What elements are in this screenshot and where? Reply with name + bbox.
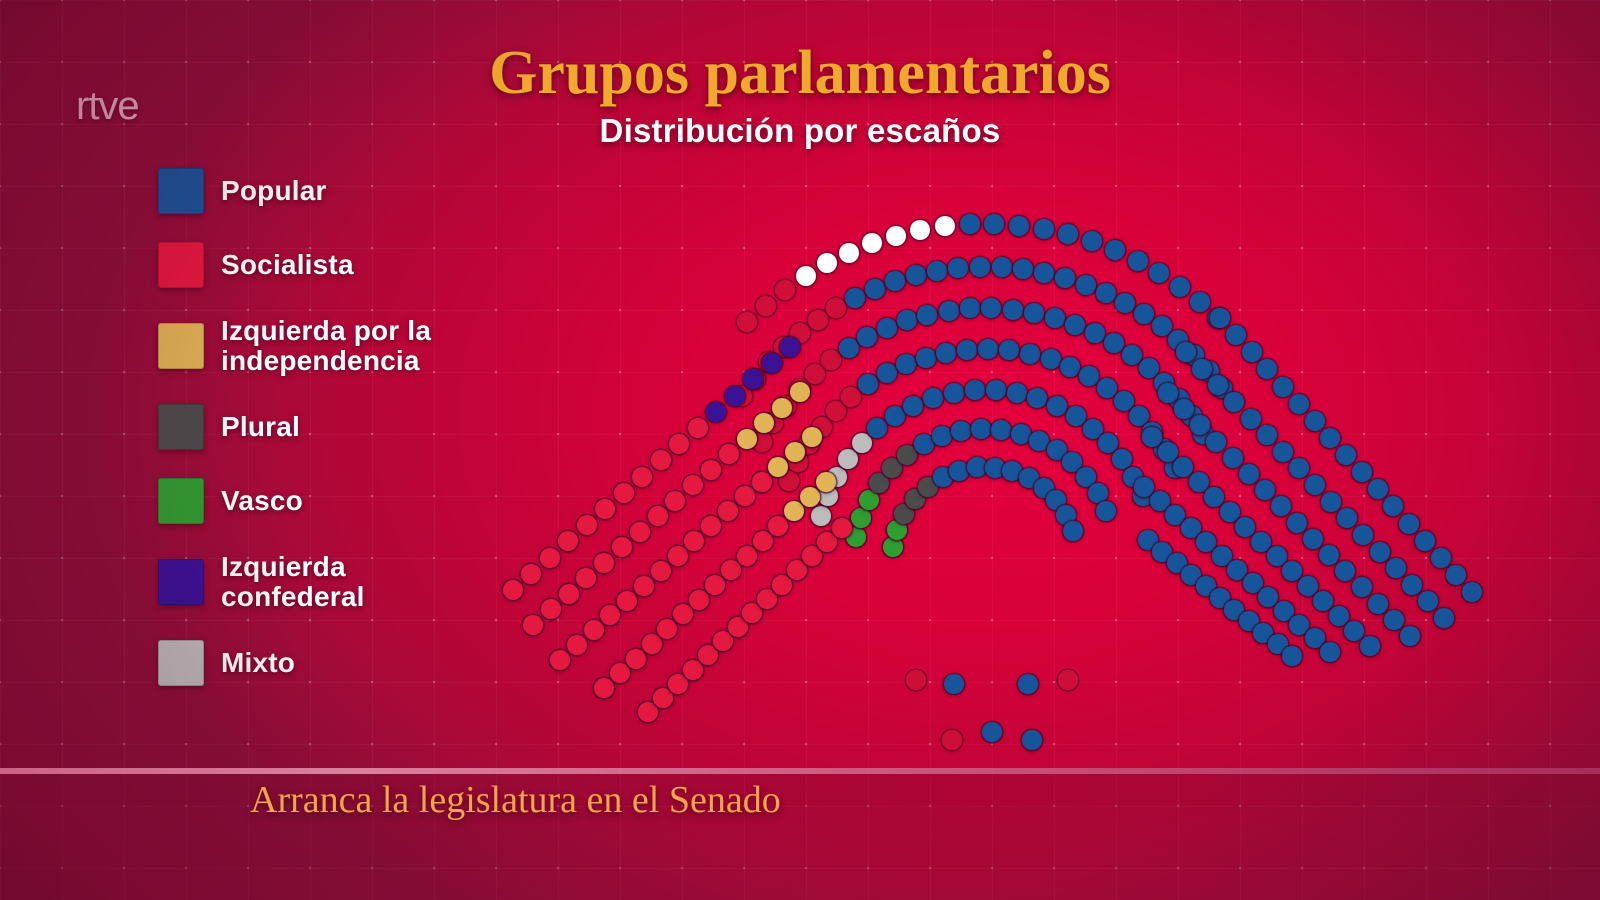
seat-popular (1282, 561, 1302, 581)
seat-popular (1096, 283, 1116, 303)
seat-popular (865, 279, 885, 299)
seat-popular (960, 298, 980, 318)
footer-band (0, 774, 1600, 900)
seat-popular (923, 388, 943, 408)
seat-socialista (657, 619, 677, 639)
seat-socialista (705, 575, 725, 595)
seat-popular (1189, 472, 1209, 492)
seat-socialista (523, 615, 543, 635)
seat-popular (1462, 582, 1482, 602)
seat-socialista (626, 649, 646, 669)
seat-socialista (558, 531, 578, 551)
seat-popular (1226, 325, 1246, 345)
seat-popular (1170, 277, 1190, 297)
seat-popular (957, 340, 977, 360)
seat-popular (1018, 674, 1038, 694)
seat-popular (1344, 621, 1364, 641)
seat-popular (1257, 359, 1277, 379)
seat-popular (1114, 391, 1134, 411)
seat-izquierda-independencia (737, 429, 757, 449)
seat-popular (917, 305, 937, 325)
seat-popular (939, 301, 959, 321)
seat-socialista (772, 575, 792, 595)
seat-popular (1134, 304, 1154, 324)
seat-popular (1204, 487, 1224, 507)
seat-popular (1158, 442, 1178, 462)
seat-izquierda-independencia (784, 501, 804, 521)
seat-socialista (567, 635, 587, 655)
seat-sin-asignar (1058, 670, 1078, 690)
seat-socialista (617, 591, 637, 611)
seat-popular (1313, 591, 1333, 611)
seat-popular (1370, 542, 1390, 562)
seat-socialista (614, 483, 634, 503)
seat-popular (1027, 388, 1047, 408)
seat-popular (1305, 411, 1325, 431)
seat-popular (1066, 406, 1086, 426)
seat-popular (1224, 392, 1244, 412)
seat-popular (932, 426, 952, 446)
seat-popular (1368, 594, 1388, 614)
seat-popular (1011, 424, 1031, 444)
seat-popular (960, 214, 980, 234)
seat-socialista (719, 444, 739, 464)
seat-socialista (683, 660, 703, 680)
seat-socialista (673, 604, 693, 624)
seat-socialista (550, 650, 570, 670)
seat-popular (877, 363, 897, 383)
seat-popular (857, 327, 877, 347)
seat-popular (967, 457, 987, 477)
seat-popular (1024, 303, 1044, 323)
seat-popular (1352, 577, 1372, 597)
seat-mixto (852, 433, 872, 453)
seat-socialista (721, 560, 741, 580)
seat-popular (1173, 457, 1193, 477)
seat-popular (1190, 292, 1210, 312)
seat-socialista (753, 531, 773, 551)
seat-popular (1082, 231, 1102, 251)
seat-socialista (600, 605, 620, 625)
seat-popular (1336, 445, 1356, 465)
seat-socialista (540, 548, 560, 568)
seat-popular (1434, 608, 1454, 628)
seat-popular (1076, 275, 1096, 295)
seat-popular (986, 380, 1006, 400)
seat-socialista (832, 518, 852, 538)
seat-popular (1104, 333, 1124, 353)
seat-socialista (632, 467, 652, 487)
seat-popular (970, 257, 990, 277)
hemicycle-seating-chart (0, 0, 1600, 900)
seat-popular (1112, 449, 1132, 469)
seat-izquierda-independencia (772, 398, 792, 418)
seat-popular (1079, 366, 1099, 386)
seat-popular (839, 338, 859, 358)
seat-socialista (595, 499, 615, 519)
seat-popular (1415, 531, 1435, 551)
seat-socialista (802, 546, 822, 566)
seat-popular (1273, 442, 1293, 462)
seat-popular (896, 354, 916, 374)
seat-popular (1399, 514, 1419, 534)
seat-socialista (668, 546, 688, 566)
seat-popular (1446, 565, 1466, 585)
seat-popular (1255, 480, 1275, 500)
seat-popular (982, 722, 1002, 742)
seat-popular (1320, 642, 1340, 662)
seat-popular (1142, 427, 1162, 447)
seat-popular (1176, 342, 1196, 362)
footer-caption: Arranca la legislatura en el Senado (250, 778, 781, 822)
seat-izquierda-independencia (785, 442, 805, 462)
seat-socialista (669, 434, 689, 454)
seat-popular (1257, 425, 1277, 445)
seat-popular (1047, 396, 1067, 416)
seat-popular (1210, 308, 1230, 328)
seat-sin-asignar (841, 387, 861, 407)
seat-popular (1235, 517, 1255, 537)
seat-popular (1289, 394, 1309, 414)
seat-popular (1192, 359, 1212, 379)
seat-vasco (851, 508, 871, 528)
seat-popular (1251, 532, 1271, 552)
seat-popular (1041, 349, 1061, 369)
seat-popular (1242, 342, 1262, 362)
seat-vacante (862, 233, 882, 253)
seat-izquierda-confederal (762, 353, 782, 373)
seat-socialista (787, 560, 807, 580)
seat-sin-asignar (826, 401, 846, 421)
seat-socialista (594, 678, 614, 698)
seat-popular (1220, 502, 1240, 522)
seat-socialista (594, 553, 614, 573)
seat-vacante (910, 220, 930, 240)
seat-popular (1303, 529, 1323, 549)
seat-socialista (737, 546, 757, 566)
seat-vacante (935, 216, 955, 236)
seat-vacante (817, 253, 837, 273)
seat-socialista (521, 564, 541, 584)
seat-popular (944, 674, 964, 694)
seat-socialista (651, 450, 671, 470)
seat-popular (885, 406, 905, 426)
seat-popular (1368, 479, 1388, 499)
seat-izquierda-independencia (768, 457, 788, 477)
seat-popular (978, 339, 998, 359)
seat-popular (936, 343, 956, 363)
seat-popular (1007, 383, 1027, 403)
seat-izquierda-confederal (725, 386, 745, 406)
seat-popular (1149, 263, 1169, 283)
seat-izquierda-independencia (790, 382, 810, 402)
seat-popular (1273, 377, 1293, 397)
seat-sin-asignar (775, 280, 795, 300)
seat-sin-asignar (942, 730, 962, 750)
seat-popular (1096, 501, 1116, 521)
seat-popular (1223, 448, 1243, 468)
seat-popular (1287, 513, 1307, 533)
seat-popular (1034, 219, 1054, 239)
seat-popular (971, 419, 991, 439)
seat-popular (948, 258, 968, 278)
seat-popular (1128, 251, 1148, 271)
seat-socialista (630, 522, 650, 542)
seat-popular (1034, 263, 1054, 283)
seat-popular (1060, 357, 1080, 377)
seat-socialista (610, 663, 630, 683)
seat-popular (1431, 548, 1451, 568)
seat-popular (867, 418, 887, 438)
seat-socialista (651, 561, 671, 581)
seat-socialista (665, 491, 685, 511)
seat-popular (981, 298, 1001, 318)
seat-popular (906, 265, 926, 285)
seat-socialista (576, 568, 596, 588)
seat-izquierda-independencia (800, 487, 820, 507)
seat-popular (903, 396, 923, 416)
seat-popular (1097, 378, 1117, 398)
seat-popular (1289, 458, 1309, 478)
seat-popular (1384, 610, 1404, 630)
seat-socialista (701, 460, 721, 480)
seat-popular (1045, 308, 1065, 328)
seat-popular (1383, 496, 1403, 516)
seat-popular (992, 257, 1012, 277)
seat-sin-asignar (808, 310, 828, 330)
seat-popular (1352, 462, 1372, 482)
seat-socialista (648, 506, 668, 526)
seat-izquierda-confederal (706, 402, 726, 422)
seat-popular (1360, 636, 1380, 656)
seat-popular (1386, 558, 1406, 578)
seat-vacante (839, 243, 859, 263)
seat-popular (1400, 626, 1420, 646)
seat-vacante (886, 226, 906, 246)
seat-popular (1058, 224, 1078, 244)
seat-popular (944, 383, 964, 403)
seat-sin-asignar (805, 364, 825, 384)
seat-popular (965, 380, 985, 400)
seat-popular (951, 421, 971, 441)
seat-izquierda-independencia (802, 427, 822, 447)
seat-mixto (838, 449, 858, 469)
seat-izquierda-confederal (780, 337, 800, 357)
seat-mixto (811, 506, 831, 526)
seat-socialista (683, 475, 703, 495)
seat-popular (885, 271, 905, 291)
seat-popular (1241, 409, 1261, 429)
seat-popular (1022, 730, 1042, 750)
seat-popular (1206, 432, 1226, 452)
seat-popular (1337, 508, 1357, 528)
seat-popular (1321, 492, 1341, 512)
seat-vasco (883, 537, 903, 557)
seat-popular (1158, 383, 1178, 403)
seat-popular (1085, 323, 1105, 343)
seat-popular (914, 434, 934, 454)
seat-popular (1055, 268, 1075, 288)
seat-socialista (642, 634, 662, 654)
seat-sin-asignar (906, 670, 926, 690)
seat-popular (845, 288, 865, 308)
seat-popular (1418, 591, 1438, 611)
seat-popular (858, 374, 878, 394)
seat-socialista (584, 620, 604, 640)
seat-popular (927, 261, 947, 281)
seat-socialista (559, 584, 579, 604)
seat-popular (1122, 345, 1142, 365)
seat-socialista (684, 531, 704, 551)
seat-popular (1152, 316, 1172, 336)
seat-socialista (612, 537, 632, 557)
seat-popular (1105, 240, 1125, 260)
seat-popular (1115, 293, 1135, 313)
seat-popular (1335, 561, 1355, 581)
footer-divider (0, 768, 1600, 774)
seat-sin-asignar (821, 350, 841, 370)
seat-popular (916, 348, 936, 368)
seat-popular (1020, 344, 1040, 364)
seat-popular (1065, 315, 1085, 335)
seat-vacante (796, 266, 816, 286)
seat-popular (999, 340, 1019, 360)
seat-socialista (752, 472, 772, 492)
seat-popular (1013, 259, 1033, 279)
seat-popular (877, 318, 897, 338)
seat-popular (897, 310, 917, 330)
seat-izquierda-independencia (816, 472, 836, 492)
seat-popular (1319, 545, 1339, 565)
seat-popular (1003, 300, 1023, 320)
seat-sin-asignar (826, 298, 846, 318)
seat-popular (1271, 496, 1291, 516)
seat-popular (1353, 525, 1373, 545)
seat-popular (1239, 464, 1259, 484)
seat-socialista (503, 580, 523, 600)
seat-popular (1282, 646, 1302, 666)
seat-socialista (698, 645, 718, 665)
seat-socialista (688, 418, 708, 438)
seat-popular (991, 420, 1011, 440)
seat-sin-asignar (756, 296, 776, 316)
seat-socialista (701, 516, 721, 536)
broadcast-graphic: rtve Grupos parlamentarios Distribución … (0, 0, 1600, 900)
seat-sin-asignar (737, 312, 757, 332)
seat-socialista (735, 486, 755, 506)
seat-popular (1320, 428, 1340, 448)
seat-socialista (713, 631, 733, 651)
seat-popular (1402, 575, 1422, 595)
seat-popular (1063, 521, 1083, 541)
seat-socialista (768, 516, 788, 536)
seat-popular (1009, 216, 1029, 236)
seat-popular (984, 214, 1004, 234)
seat-socialista (634, 576, 654, 596)
seat-popular (1305, 475, 1325, 495)
seat-socialista (689, 590, 709, 610)
seat-socialista (718, 501, 738, 521)
seat-socialista (577, 515, 597, 535)
seat-socialista (541, 599, 561, 619)
